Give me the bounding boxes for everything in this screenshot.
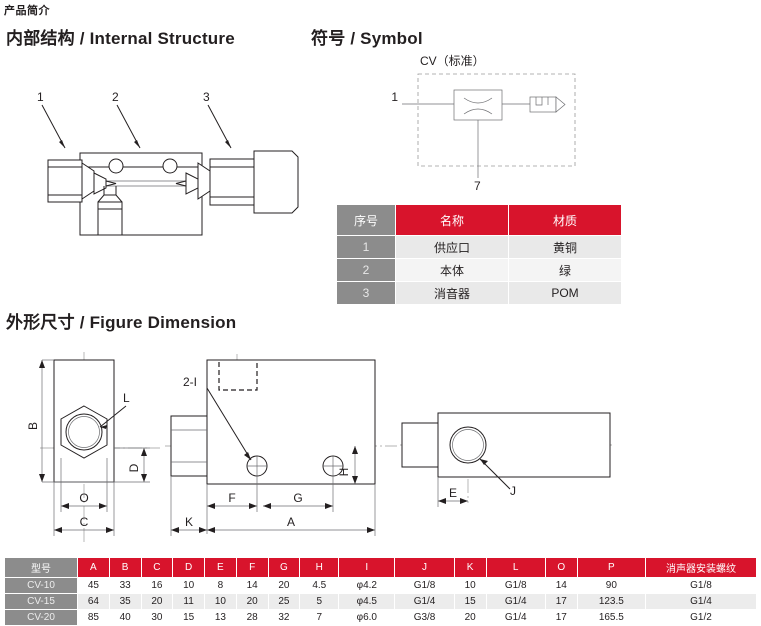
parts-cell-material: POM [509,282,622,305]
spec-header-F: F [236,558,268,578]
spec-cell-model: CV-20 [5,610,78,626]
spec-cell-O: 14 [545,578,577,594]
symbol-port-7: 7 [474,179,481,193]
parts-cell-index: 1 [337,236,396,259]
parts-cell-material: 绿 [509,259,622,282]
spec-cell-P: 123.5 [577,594,645,610]
parts-cell-material: 黄铜 [509,236,622,259]
spec-cell-model: CV-10 [5,578,78,594]
spec-cell-I: φ4.2 [339,578,395,594]
spec-cell-B: 33 [109,578,141,594]
spec-header-O: O [545,558,577,578]
symbol-diagram: CV（标准） 1 7 [400,52,595,192]
parts-cell-name: 本体 [396,259,509,282]
spec-cell-C: 20 [141,594,173,610]
spec-cell-C: 16 [141,578,173,594]
parts-header-name: 名称 [396,205,509,236]
spec-header-I: I [339,558,395,578]
spec-cell-H: 4.5 [300,578,339,594]
table-row: CV-1045331610814204.5φ4.2G1/810G1/81490G… [5,578,757,594]
spec-cell-model: CV-15 [5,594,78,610]
spec-cell-消声器安装螺纹: G1/8 [646,578,757,594]
parts-header-material: 材质 [509,205,622,236]
spec-cell-H: 7 [300,610,339,626]
spec-cell-F: 20 [236,594,268,610]
spec-cell-L: G1/4 [486,594,545,610]
spec-cell-J: G1/4 [395,594,454,610]
spec-cell-D: 10 [173,578,205,594]
spec-cell-J: G1/8 [395,578,454,594]
spec-cell-L: G1/4 [486,610,545,626]
section-title-symbol: 符号 / Symbol [311,24,423,49]
parts-table: 序号 名称 材质 1 供应口 黄铜 2 本体 绿 3 消音器 POM [336,204,622,305]
spec-header-E: E [205,558,237,578]
spec-cell-O: 17 [545,610,577,626]
spec-cell-消声器安装螺纹: G1/2 [646,610,757,626]
parts-table-header-row: 序号 名称 材质 [337,205,622,236]
section-title-internal-structure: 内部结构 / Internal Structure [6,24,235,49]
spec-header-L: L [486,558,545,578]
dim-label-F: F [228,491,235,505]
parts-cell-name: 供应口 [396,236,509,259]
spec-cell-G: 32 [268,610,300,626]
spec-cell-P: 90 [577,578,645,594]
dimension-view-middle: 2-I H F G K A [165,348,400,548]
parts-cell-index: 3 [337,282,396,305]
parts-cell-name: 消音器 [396,282,509,305]
dimension-view-right: J E [400,393,615,528]
spec-header-G: G [268,558,300,578]
symbol-port-1: 1 [391,90,398,104]
spec-header-model: 型号 [5,558,78,578]
spec-cell-D: 15 [173,610,205,626]
spec-cell-D: 11 [173,594,205,610]
symbol-caption: CV（标准） [420,54,485,68]
spec-cell-P: 165.5 [577,610,645,626]
spec-cell-A: 45 [78,578,110,594]
dim-label-G: G [293,491,302,505]
dim-label-H: H [337,468,351,477]
spec-cell-G: 20 [268,578,300,594]
spec-cell-K: 10 [454,578,486,594]
table-row: 3 消音器 POM [337,282,622,305]
dim-label-J: J [510,484,516,498]
breadcrumb: 产品简介 [4,2,50,18]
spec-header-K: K [454,558,486,578]
spec-cell-I: φ6.0 [339,610,395,626]
spec-cell-J: G3/8 [395,610,454,626]
spec-header-C: C [141,558,173,578]
dim-label-A: A [287,515,295,529]
spec-header-A: A [78,558,110,578]
spec-cell-L: G1/8 [486,578,545,594]
spec-cell-K: 20 [454,610,486,626]
dim-label-L: L [123,391,130,405]
table-row: 2 本体 绿 [337,259,622,282]
spec-cell-H: 5 [300,594,339,610]
spec-header-B: B [109,558,141,578]
table-row: CV-20854030151328327φ6.0G3/820G1/417165.… [5,610,757,626]
spec-table-header-row: 型号ABCDEFGHIJKLOP消声器安装螺纹 [5,558,757,578]
section-title-figure-dimension: 外形尺寸 / Figure Dimension [6,308,236,333]
spec-cell-A: 85 [78,610,110,626]
spec-header-muffler-thread: 消声器安装螺纹 [646,558,757,578]
internal-structure-diagram: 1 2 3 [20,85,320,250]
dimension-view-left: L B D O C [10,348,170,548]
parts-cell-index: 2 [337,259,396,282]
specification-table: 型号ABCDEFGHIJKLOP消声器安装螺纹 CV-1045331610814… [4,557,757,626]
spec-cell-F: 28 [236,610,268,626]
dim-label-2I: 2-I [183,375,197,389]
internal-label-1: 1 [37,90,44,104]
spec-cell-消声器安装螺纹: G1/4 [646,594,757,610]
spec-header-D: D [173,558,205,578]
dim-label-D: D [127,463,141,472]
spec-cell-F: 14 [236,578,268,594]
internal-label-2: 2 [112,90,119,104]
spec-cell-K: 15 [454,594,486,610]
dim-label-O: O [79,491,88,505]
spec-cell-O: 17 [545,594,577,610]
spec-cell-E: 8 [205,578,237,594]
spec-header-P: P [577,558,645,578]
spec-cell-B: 40 [109,610,141,626]
spec-cell-I: φ4.5 [339,594,395,610]
table-row: CV-15643520111020255φ4.5G1/415G1/417123.… [5,594,757,610]
spec-cell-G: 25 [268,594,300,610]
internal-label-3: 3 [203,90,210,104]
dim-label-E: E [449,486,457,500]
dim-label-K: K [185,515,193,529]
dim-label-B: B [26,422,40,430]
spec-cell-B: 35 [109,594,141,610]
spec-cell-E: 10 [205,594,237,610]
spec-cell-E: 13 [205,610,237,626]
spec-cell-A: 64 [78,594,110,610]
parts-header-index: 序号 [337,205,396,236]
spec-header-J: J [395,558,454,578]
spec-cell-C: 30 [141,610,173,626]
dim-label-C: C [80,515,89,529]
table-row: 1 供应口 黄铜 [337,236,622,259]
spec-header-H: H [300,558,339,578]
